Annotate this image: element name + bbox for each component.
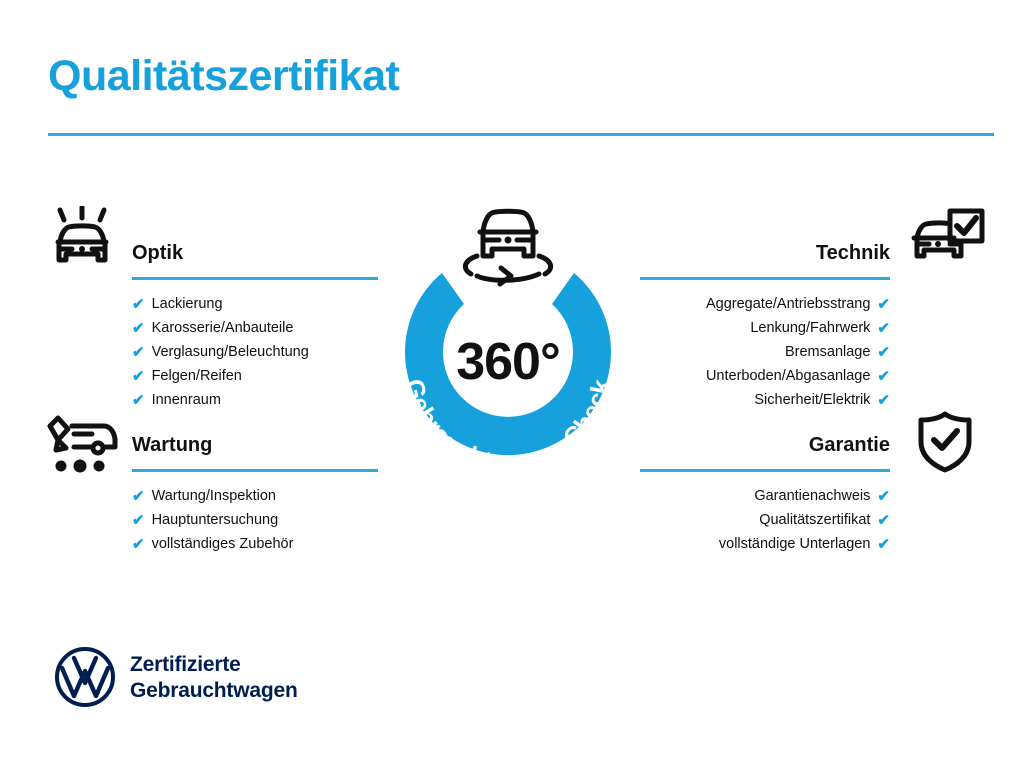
section-title: Technik [640,240,890,266]
list-item: ✔Innenraum [132,388,378,412]
list-item: vollständige Unterlagen✔ [640,532,890,556]
list-item: Qualitätszertifikat✔ [640,508,890,532]
section-technik: Technik Aggregate/Antriebsstrang✔ Lenkun… [640,240,890,412]
list-item: ✔Karosserie/Anbauteile [132,316,378,340]
check-icon: ✔ [132,393,145,408]
list-item-label: Qualitätszertifikat [759,508,870,532]
check-icon: ✔ [132,297,145,312]
check-icon: ✔ [132,321,145,336]
list-item-label: Wartung/Inspektion [152,484,276,508]
section-title: Wartung [132,432,378,458]
section-divider [640,469,890,472]
check-icon: ✔ [132,537,145,552]
list-item: ✔Lackierung [132,292,378,316]
pen-car-service-icon [44,414,122,481]
list-item-label: Verglasung/Beleuchtung [152,340,309,364]
list-item-label: Garantienachweis [754,484,870,508]
vw-wordmark-line2: Gebrauchtwagen [130,678,298,704]
check-icon: ✔ [877,489,890,504]
list-item-label: Lenkung/Fahrwerk [750,316,870,340]
check-icon: ✔ [877,393,890,408]
checklist-technik: Aggregate/Antriebsstrang✔ Lenkung/Fahrwe… [640,292,890,412]
vw-wordmark: Zertifizierte Gebrauchtwagen [130,652,298,704]
list-item: ✔vollständiges Zubehör [132,532,378,556]
list-item-label: Unterboden/Abgasanlage [706,364,870,388]
list-item-label: Lackierung [152,292,223,316]
check-icon: ✔ [877,369,890,384]
list-item: ✔Verglasung/Beleuchtung [132,340,378,364]
check-icon: ✔ [877,297,890,312]
car-rotate-360-icon [455,198,561,294]
section-header: Garantie [640,432,890,472]
list-item-label: vollständige Unterlagen [719,532,871,556]
list-item: Sicherheit/Elektrik✔ [640,388,890,412]
checklist-wartung: ✔Wartung/Inspektion ✔Hauptuntersuchung ✔… [132,484,378,556]
section-garantie: Garantie Garantienachweis✔ Qualitätszert… [640,432,890,556]
badge-360-check: Gebrauchtwagen-Check 360° [372,242,644,494]
check-icon: ✔ [132,489,145,504]
list-item: Aggregate/Antriebsstrang✔ [640,292,890,316]
vw-wordmark-line1: Zertifizierte [130,652,298,678]
checklist-garantie: Garantienachweis✔ Qualitätszertifikat✔ v… [640,484,890,556]
list-item: ✔Wartung/Inspektion [132,484,378,508]
check-icon: ✔ [877,321,890,336]
check-icon: ✔ [877,513,890,528]
list-item-label: Sicherheit/Elektrik [754,388,870,412]
car-polish-shine-icon [46,206,118,275]
title-divider [48,133,994,136]
list-item-label: Hauptuntersuchung [152,508,279,532]
list-item-label: Innenraum [152,388,221,412]
list-item: ✔Felgen/Reifen [132,364,378,388]
list-item: Bremsanlage✔ [640,340,890,364]
list-item: Unterboden/Abgasanlage✔ [640,364,890,388]
section-header: Optik [132,240,378,280]
section-header: Wartung [132,432,378,472]
section-title: Garantie [640,432,890,458]
list-item-label: vollständiges Zubehör [152,532,294,556]
list-item-label: Karosserie/Anbauteile [152,316,294,340]
page-title: Qualitätszertifikat [48,52,399,101]
list-item: Lenkung/Fahrwerk✔ [640,316,890,340]
check-icon: ✔ [132,345,145,360]
section-optik: Optik ✔Lackierung ✔Karosserie/Anbauteile… [132,240,378,412]
check-icon: ✔ [132,369,145,384]
section-divider [132,469,378,472]
section-divider [132,277,378,280]
checklist-optik: ✔Lackierung ✔Karosserie/Anbauteile ✔Verg… [132,292,378,412]
car-checkbox-icon [910,208,986,275]
certificate-page: Qualitätszertifikat [0,0,1024,768]
list-item-label: Bremsanlage [785,340,870,364]
section-header: Technik [640,240,890,280]
section-title: Optik [132,240,378,266]
vw-roundel-logo [54,646,116,713]
check-icon: ✔ [877,345,890,360]
list-item: ✔Hauptuntersuchung [132,508,378,532]
section-wartung: Wartung ✔Wartung/Inspektion ✔Hauptunters… [132,432,378,556]
shield-check-icon [916,410,974,479]
list-item-label: Aggregate/Antriebsstrang [706,292,870,316]
check-icon: ✔ [132,513,145,528]
section-divider [640,277,890,280]
check-icon: ✔ [877,537,890,552]
list-item: Garantienachweis✔ [640,484,890,508]
list-item-label: Felgen/Reifen [152,364,242,388]
